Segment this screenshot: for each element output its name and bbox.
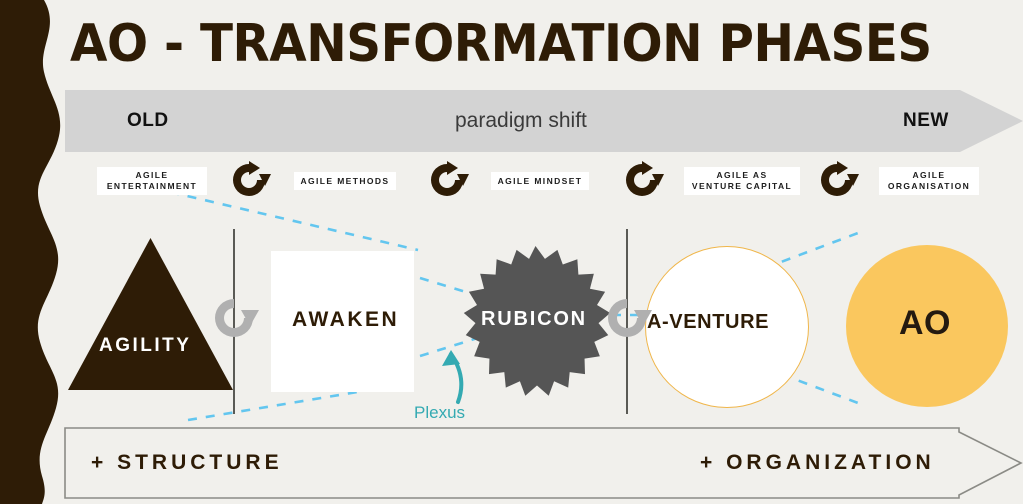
chip-line1: AGILE	[107, 170, 197, 181]
phase-label-agility: AGILITY	[99, 335, 191, 357]
chip-agile-mindset[interactable]: AGILE MINDSET	[491, 172, 589, 190]
loop-icon-left	[205, 292, 263, 348]
loop-icon-right	[598, 292, 656, 348]
chip-agile-methods[interactable]: AGILE METHODS	[294, 172, 396, 190]
chip-line1: AGILE MINDSET	[498, 176, 583, 187]
page-title: AO - TRANSFORMATION PHASES	[70, 12, 932, 76]
chip-agile-entertainment[interactable]: AGILE ENTERTAINMENT	[97, 167, 207, 195]
chip-agile-as-venture-capital[interactable]: AGILE AS VENTURE CAPITAL	[684, 167, 800, 195]
refresh-icon-3	[619, 159, 665, 203]
chip-line2: ORGANISATION	[888, 181, 970, 192]
paradigm-shift-bar: OLD paradigm shift NEW	[65, 90, 1023, 152]
refresh-icon-2	[424, 159, 470, 203]
chip-line1: AGILE AS	[692, 170, 792, 181]
organization-label: + ORGANIZATION	[700, 427, 935, 499]
chip-line1: AGILE	[888, 170, 970, 181]
chip-line2: VENTURE CAPITAL	[692, 181, 792, 192]
plexus-curved-arrow-icon	[432, 340, 474, 406]
structure-label: + STRUCTURE	[91, 427, 283, 499]
bottom-arrow-bar: + STRUCTURE + ORGANIZATION	[64, 427, 1023, 499]
chip-agile-organisation[interactable]: AGILE ORGANISATION	[879, 167, 979, 195]
chip-line2: ENTERTAINMENT	[107, 181, 197, 192]
refresh-icon-1	[226, 159, 272, 203]
old-label: OLD	[127, 90, 169, 152]
refresh-icon-4	[814, 159, 860, 203]
plexus-label: Plexus	[414, 403, 465, 423]
phase-label-ao: AO	[899, 304, 951, 343]
new-label: NEW	[903, 90, 949, 152]
paradigm-shift-label: paradigm shift	[455, 90, 587, 152]
phase-label-a-venture: A-VENTURE	[647, 311, 769, 334]
phase-label-awaken: AWAKEN	[292, 308, 399, 332]
chip-line1: AGILE METHODS	[300, 176, 389, 187]
wavy-edge-decoration	[0, 0, 70, 504]
slide-canvas: AO - TRANSFORMATION PHASES OLD paradigm …	[0, 0, 1023, 504]
phase-label-rubicon: RUBICON	[481, 308, 587, 331]
